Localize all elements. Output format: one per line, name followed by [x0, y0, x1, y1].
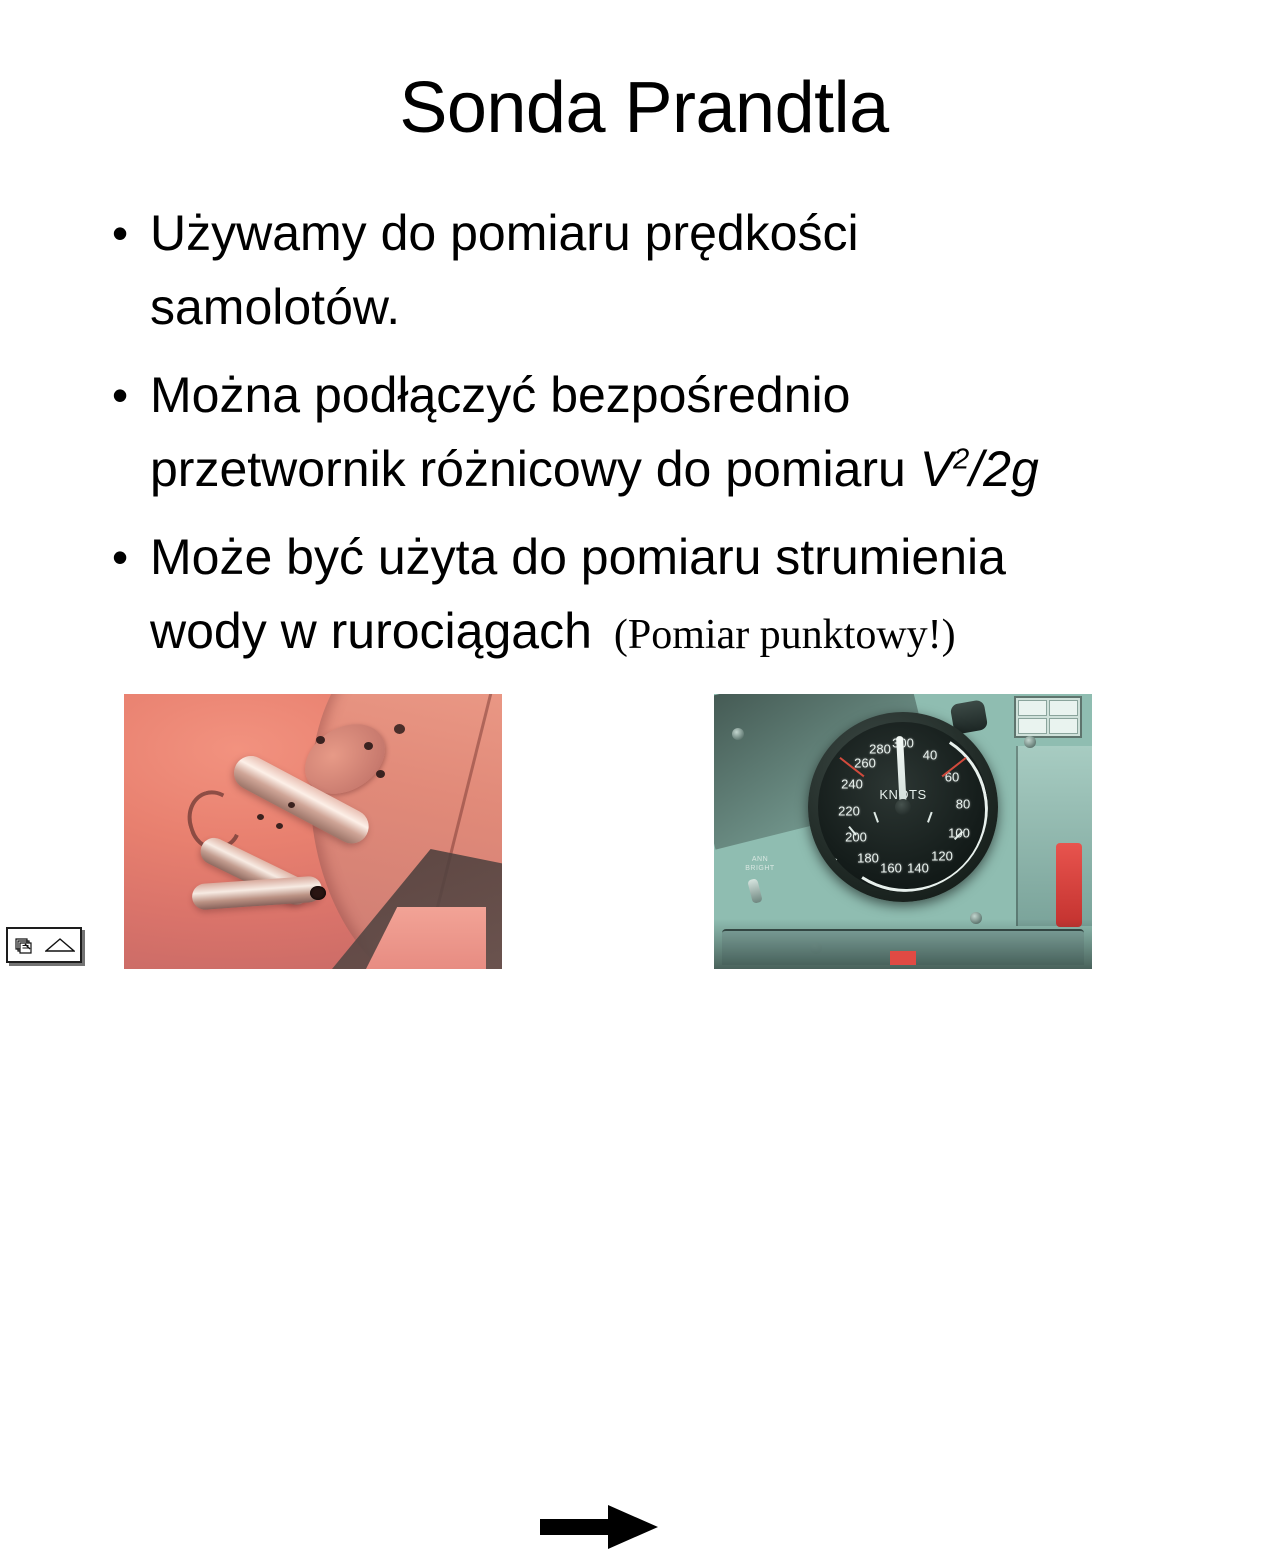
probe-static-port	[288, 802, 295, 808]
mount-bolt	[376, 770, 385, 778]
bullet-item-2-text: Można podłączyć bezpośrednio przetwornik…	[150, 358, 1224, 506]
bullet-2-line-2-prefix: przetwornik różnicowy do pomiaru	[150, 441, 906, 497]
mount-bolt	[316, 736, 325, 744]
right-arrow-icon	[540, 1502, 660, 1552]
gauge-scale-number: 140	[907, 861, 929, 876]
gauge-scale-number: 100	[948, 826, 970, 841]
velocity-head-formula: V2/2g	[920, 441, 1039, 497]
probe-tip-section	[191, 875, 322, 910]
slideshow-control-widget[interactable]	[6, 927, 82, 963]
lower-console-bar	[722, 929, 1084, 965]
gauge-scale-number: 260	[854, 756, 876, 771]
circuit-breaker-block	[1014, 696, 1082, 738]
fuselage-rivet	[394, 724, 405, 734]
gauge-tick	[903, 890, 987, 892]
bullet-item-3: • Może być użyta do pomiaru strumienia w…	[104, 520, 1224, 672]
point-measurement-note: (Pomiar punktowy!)	[614, 612, 956, 658]
formula-base: V	[920, 441, 953, 497]
pitot-tube-photo	[124, 694, 502, 969]
bullet-item-1-text: Używamy do pomiaru prędkości samolotów.	[150, 196, 1224, 344]
airspeed-indicator-photo: ANN BRIGHT	[714, 694, 1092, 969]
gauge-scale-number: 40	[923, 748, 937, 763]
popup-menu-icon[interactable]	[45, 937, 75, 953]
breaker-cell	[1049, 718, 1078, 734]
switch-label: ANN BRIGHT	[738, 856, 782, 873]
bullet-1-line-1: Używamy do pomiaru prędkości	[150, 205, 859, 261]
breaker-cell	[1049, 700, 1078, 716]
bullet-item-1: • Używamy do pomiaru prędkości samolotów…	[104, 196, 1224, 344]
bullet-glyph: •	[104, 196, 150, 270]
formula-exponent: 2	[953, 443, 969, 475]
bullet-item-2: • Można podłączyć bezpośrednio przetworn…	[104, 358, 1224, 506]
slide-body: • Używamy do pomiaru prędkości samolotów…	[104, 196, 1224, 686]
bullet-2-line-1: Można podłączyć bezpośrednio	[150, 367, 850, 423]
gauge-scale-number: 240	[841, 777, 863, 792]
breaker-cell	[1018, 700, 1047, 716]
probe-static-port	[257, 814, 264, 820]
bullet-glyph: •	[104, 520, 150, 594]
pen-annotation-icon[interactable]	[13, 935, 35, 955]
probe-total-pressure-hole	[310, 886, 326, 900]
gauge-scale-number: 180	[857, 851, 879, 866]
panel-screw	[732, 728, 744, 740]
formula-tail: /2g	[969, 441, 1039, 497]
gauge-scale-number: 200	[845, 830, 867, 845]
mount-bolt	[364, 742, 373, 750]
bullet-item-3-text: Może być użyta do pomiaru strumienia wod…	[150, 520, 1224, 672]
annunciator-toggle-switch	[747, 878, 763, 904]
airspeed-gauge-bezel: 40 60 80 100 120 140 160 180 200 220 240…	[808, 712, 998, 902]
breaker-cell	[1018, 718, 1047, 734]
gauge-tick	[819, 890, 903, 892]
bullet-3-line-1: Może być użyta do pomiaru strumienia	[150, 529, 1006, 585]
airspeed-gauge-face: 40 60 80 100 120 140 160 180 200 220 240…	[818, 722, 988, 892]
bullet-3-line-2: wody w rurociągach	[150, 603, 592, 659]
panel-screw	[1024, 736, 1036, 748]
console-red-light	[890, 951, 916, 965]
gauge-needle-hub	[895, 799, 911, 815]
gauge-scale-number: 160	[880, 861, 902, 876]
figure-strip: ANN BRIGHT	[0, 694, 1288, 969]
pitot-scene	[124, 694, 502, 969]
red-indicator-strip	[1056, 843, 1082, 927]
presentation-slide: Sonda Prandtla • Używamy do pomiaru pręd…	[0, 0, 1288, 969]
cockpit-scene: ANN BRIGHT	[714, 694, 1092, 969]
gauge-scale-number: 120	[931, 849, 953, 864]
gauge-scale-number: 220	[838, 804, 860, 819]
gauge-scale-number: 280	[869, 742, 891, 757]
gauge-scale-number: 80	[956, 797, 970, 812]
bullet-glyph: •	[104, 358, 150, 432]
bullet-1-line-2: samolotów.	[150, 279, 400, 335]
probe-static-port	[276, 823, 283, 829]
slide-title: Sonda Prandtla	[0, 72, 1288, 144]
